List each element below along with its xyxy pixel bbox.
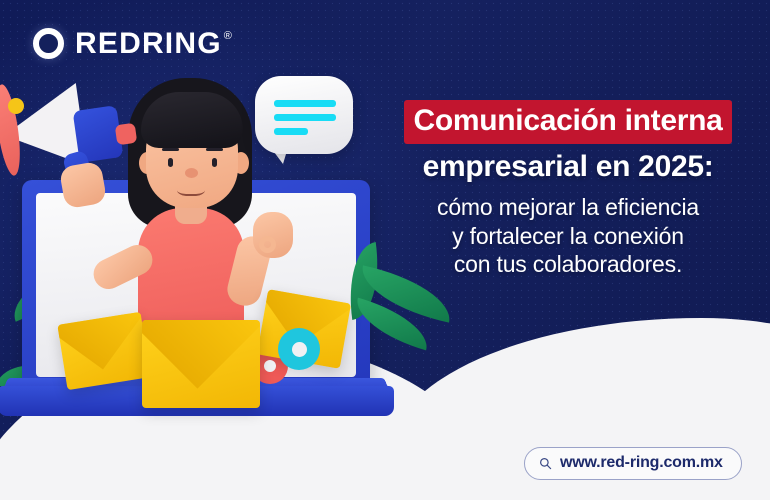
headline-line-2: empresarial en 2025:: [372, 147, 764, 186]
envelope-flap: [57, 312, 150, 390]
subheading-line-2: y fortalecer la conexión: [372, 222, 764, 251]
speech-bubble-line: [274, 114, 336, 121]
character-hair-front: [141, 92, 243, 148]
promo-banner: REDRING ®: [0, 0, 770, 500]
megaphone-accent-dot: [8, 98, 24, 114]
character-eye-right: [212, 158, 217, 167]
website-url-pill[interactable]: www.red-ring.com.mx: [524, 447, 742, 480]
brand-logo[interactable]: REDRING ®: [33, 28, 232, 59]
character-body: [138, 208, 244, 338]
speech-bubble-line: [274, 128, 308, 135]
character-nose: [185, 168, 198, 178]
subheading-block: cómo mejorar la eficiencia y fortalecer …: [372, 193, 764, 279]
megaphone-accent: [115, 123, 138, 146]
logo-text: REDRING: [75, 29, 222, 59]
character-eyebrow-right: [206, 148, 223, 151]
envelope-icon: [57, 312, 150, 390]
search-icon: [539, 457, 552, 470]
character-eyebrow-left: [162, 148, 179, 151]
gear-cyan-hole: [292, 342, 307, 357]
subheading-line-1: cómo mejorar la eficiencia: [372, 193, 764, 222]
headline-block: Comunicación interna empresarial en 2025…: [372, 100, 764, 279]
character-mouth: [177, 182, 205, 196]
headline-line-1-wrapper: Comunicación interna: [372, 100, 764, 144]
headline-highlight: Comunicación interna: [404, 100, 731, 144]
speech-bubble-line: [274, 100, 336, 107]
logo-wordmark: REDRING ®: [75, 29, 232, 59]
website-url-text: www.red-ring.com.mx: [560, 455, 723, 471]
ok-hand-circle: [259, 236, 276, 253]
trademark-symbol: ®: [224, 31, 232, 42]
ok-hand-icon: [253, 212, 293, 258]
ring-icon: [33, 28, 64, 59]
envelope-icon: [142, 320, 260, 408]
gear-red-hole: [264, 360, 276, 372]
character-eye-left: [168, 158, 173, 167]
subheading-line-3: con tus colaboradores.: [372, 250, 764, 279]
envelope-flap: [142, 320, 260, 408]
